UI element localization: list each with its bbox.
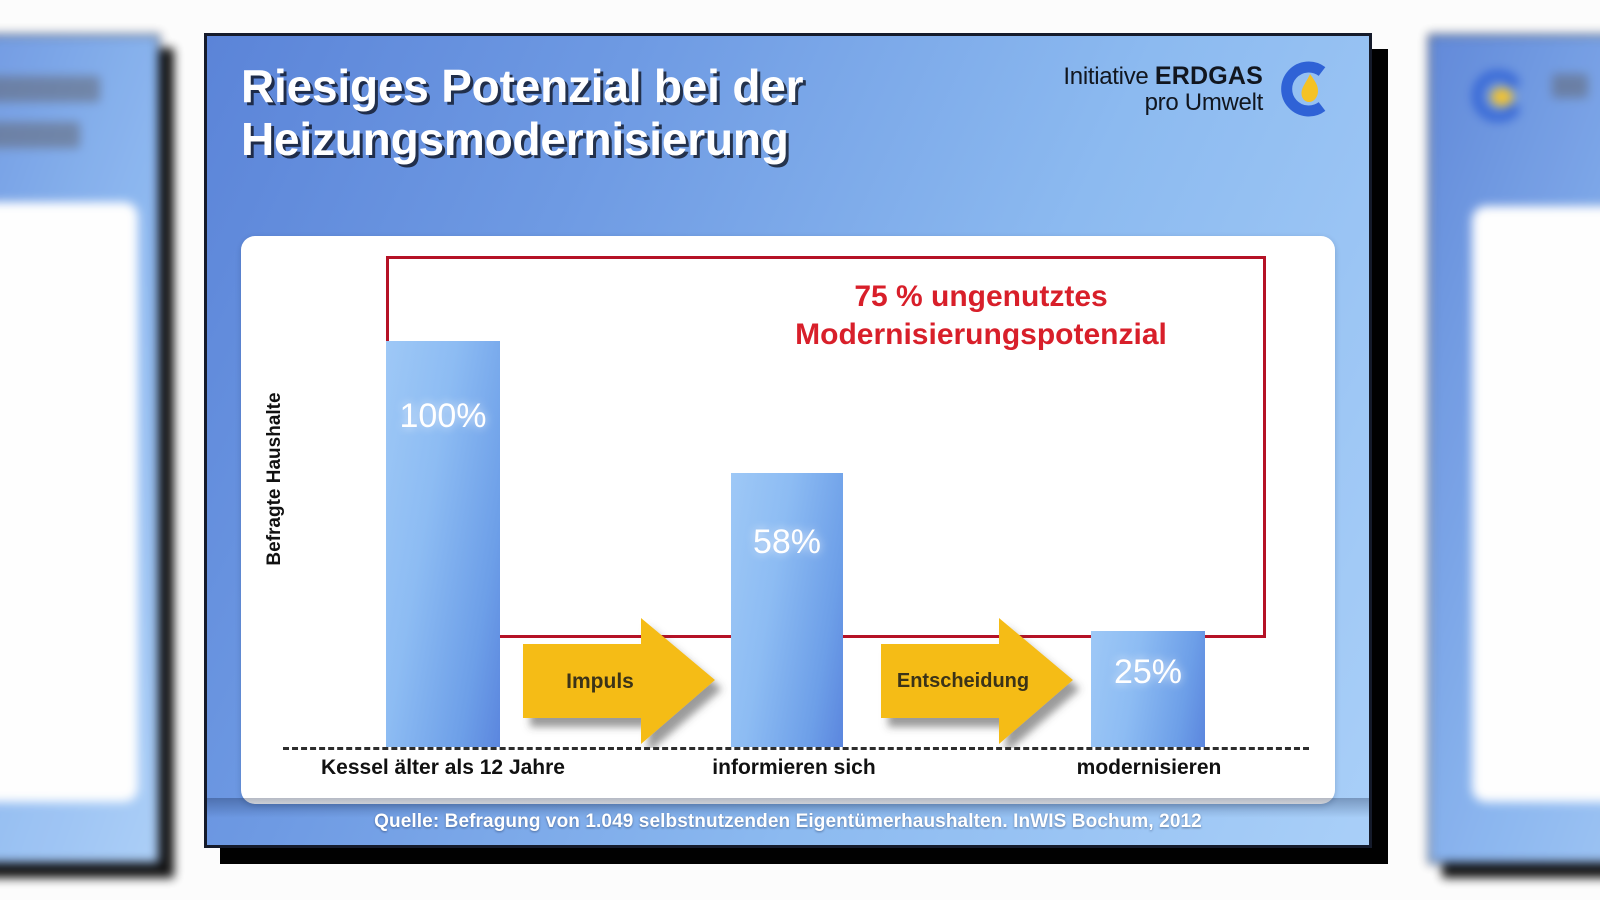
bar-informieren-sich[interactable]: 58%	[731, 473, 843, 747]
unused-potential-annotation: 75 % ungenutztes Modernisierungspotenzia…	[746, 278, 1216, 354]
brand-pro-umwelt-text: pro Umwelt	[1063, 90, 1263, 115]
category-label-2: modernisieren	[993, 756, 1305, 780]
next-slide-preview[interactable]	[1428, 34, 1600, 864]
bar-value-label: 100%	[386, 397, 500, 436]
bar-kessel-aelter-als-12-jahre[interactable]: 100%	[386, 341, 500, 747]
y-axis-label: Befragte Haushalte	[264, 379, 286, 579]
bar-value-label: 25%	[1091, 653, 1205, 692]
previous-slide-card	[0, 202, 138, 802]
category-label-1: informieren sich	[649, 756, 939, 780]
unused-potential-line-2: Modernisierungspotenzial	[746, 316, 1216, 354]
entscheidung-arrow: Entscheidung	[877, 618, 1089, 748]
page-title: Riesiges Potenzial bei der Heizungsmoder…	[241, 60, 981, 167]
brand-erdgas-text: ERDGAS	[1155, 62, 1263, 90]
arrow-right-icon	[877, 618, 1089, 748]
slideshow-stage: Riesiges Potenzial bei der Heizungsmoder…	[0, 0, 1600, 900]
chart-baseline	[283, 747, 1309, 750]
brand-wordmark: Initiative ERDGAS pro Umwelt	[1063, 63, 1263, 114]
previous-slide-title-line-1	[0, 76, 100, 102]
bar-chart-plot: Befragte Haushalte 75 % ungenutztes Mode…	[241, 236, 1335, 804]
brand-initiative-text: Initiative	[1063, 63, 1154, 90]
impuls-arrow: Impuls	[519, 618, 731, 748]
next-slide-title-stub	[1552, 74, 1588, 98]
brand-logo: Initiative ERDGAS pro Umwelt	[1063, 58, 1337, 120]
brand-line-initiative-erdgas: Initiative ERDGAS	[1063, 63, 1263, 89]
current-slide[interactable]: Riesiges Potenzial bei der Heizungsmoder…	[204, 33, 1372, 848]
arrow-right-icon	[519, 618, 731, 748]
source-text: Quelle: Befragung von 1.049 selbstnutzen…	[374, 811, 1202, 833]
next-slide-card	[1472, 206, 1600, 802]
erdgas-ring-flame-icon	[1275, 58, 1337, 120]
chart-card: Befragte Haushalte 75 % ungenutztes Mode…	[241, 236, 1335, 804]
next-slide-logo-icon	[1468, 70, 1528, 122]
slide-header: Riesiges Potenzial bei der Heizungsmoder…	[207, 36, 1369, 232]
bar-value-label: 58%	[731, 523, 843, 562]
previous-slide-preview[interactable]	[0, 34, 160, 864]
source-band: Quelle: Befragung von 1.049 selbstnutzen…	[207, 798, 1369, 845]
category-label-0: Kessel älter als 12 Jahre	[257, 756, 629, 780]
previous-slide-title-line-2	[0, 122, 80, 148]
bar-modernisieren[interactable]: 25%	[1091, 631, 1205, 747]
unused-potential-line-1: 75 % ungenutztes	[746, 278, 1216, 316]
